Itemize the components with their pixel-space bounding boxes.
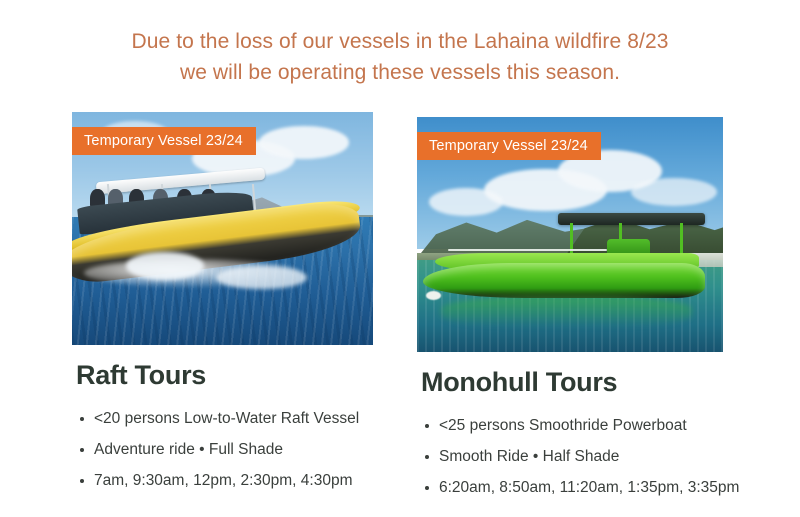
bullet-icon bbox=[425, 486, 429, 490]
bullet-icon bbox=[80, 479, 84, 483]
list-item: Adventure ride • Full Shade bbox=[72, 434, 373, 465]
list-item-label: <20 persons Low-to-Water Raft Vessel bbox=[94, 410, 359, 427]
bullet-icon bbox=[80, 448, 84, 452]
tour-card-monohull: Temporary Vessel 23/24 Monohull Tours <2… bbox=[417, 112, 723, 503]
list-item: 6:20am, 8:50am, 11:20am, 1:35pm, 3:35pm bbox=[417, 472, 723, 503]
temporary-vessel-badge: Temporary Vessel 23/24 bbox=[417, 132, 601, 160]
hull-reflection bbox=[441, 296, 692, 329]
monohull-tours-feature-list: <25 persons Smoothride Powerboat Smooth … bbox=[417, 410, 723, 503]
cloud-shape bbox=[631, 178, 717, 206]
list-item: <20 persons Low-to-Water Raft Vessel bbox=[72, 403, 373, 434]
list-item: 7am, 9:30am, 12pm, 2:30pm, 4:30pm bbox=[72, 465, 373, 496]
monohull-tours-title: Monohull Tours bbox=[421, 369, 723, 396]
boat-hull bbox=[423, 263, 705, 298]
announcement-headline: Due to the loss of our vessels in the La… bbox=[0, 26, 800, 88]
bullet-icon bbox=[80, 417, 84, 421]
raft-photo-container: Temporary Vessel 23/24 bbox=[72, 112, 373, 345]
bullet-icon bbox=[425, 424, 429, 428]
list-item-label: 7am, 9:30am, 12pm, 2:30pm, 4:30pm bbox=[94, 472, 352, 489]
list-item-label: Adventure ride • Full Shade bbox=[94, 441, 283, 458]
raft-tours-feature-list: <20 persons Low-to-Water Raft Vessel Adv… bbox=[72, 403, 373, 496]
raft-tours-title: Raft Tours bbox=[76, 362, 373, 389]
bow-railing bbox=[448, 249, 607, 251]
tour-columns: Temporary Vessel 23/24 Raft Tours <20 pe… bbox=[0, 112, 800, 512]
cloud-shape bbox=[429, 188, 502, 216]
water-spray bbox=[216, 266, 306, 289]
water-spray bbox=[126, 252, 204, 280]
headline-line-2: we will be operating these vessels this … bbox=[0, 57, 800, 88]
bullet-icon bbox=[425, 455, 429, 459]
list-item-label: 6:20am, 8:50am, 11:20am, 1:35pm, 3:35pm bbox=[439, 479, 739, 496]
monohull-photo-container: Temporary Vessel 23/24 bbox=[417, 117, 723, 352]
list-item: Smooth Ride • Half Shade bbox=[417, 441, 723, 472]
list-item-label: <25 persons Smoothride Powerboat bbox=[439, 417, 687, 434]
tour-card-raft: Temporary Vessel 23/24 Raft Tours <20 pe… bbox=[72, 112, 373, 496]
cloud-shape bbox=[259, 126, 349, 159]
list-item-label: Smooth Ride • Half Shade bbox=[439, 448, 619, 465]
temporary-vessel-badge: Temporary Vessel 23/24 bbox=[72, 127, 256, 155]
headline-line-1: Due to the loss of our vessels in the La… bbox=[0, 26, 800, 57]
list-item: <25 persons Smoothride Powerboat bbox=[417, 410, 723, 441]
